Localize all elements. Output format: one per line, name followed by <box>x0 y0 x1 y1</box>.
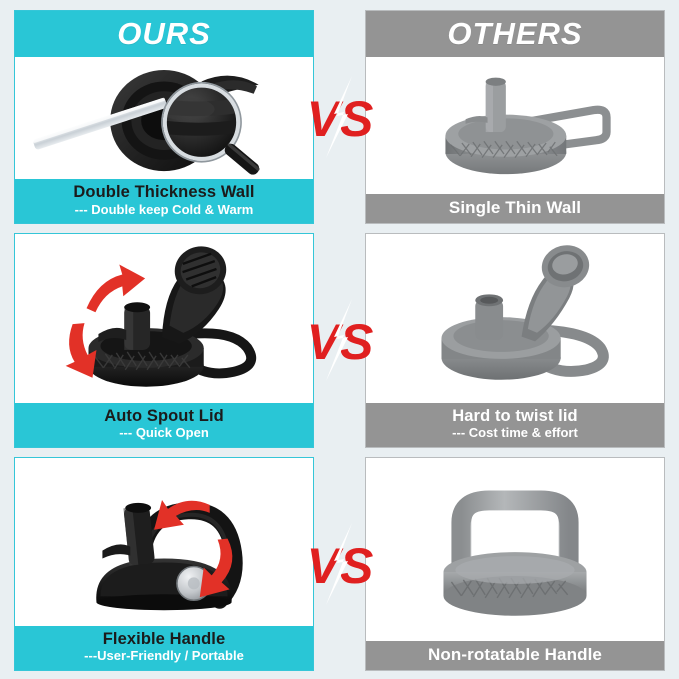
ours-caption-handle: Flexible Handle ---User-Friendly / Porta… <box>15 626 313 670</box>
svg-text:VS: VS <box>306 538 373 594</box>
single-thin-wall-lid-photo <box>366 57 664 194</box>
ours-image-wall-thickness <box>15 57 313 179</box>
others-card-wall-thickness: OTHERS <box>365 10 665 224</box>
ours-image-spout-lid <box>15 234 313 402</box>
caption-title: Auto Spout Lid <box>21 407 307 425</box>
svg-text:VS: VS <box>306 314 373 370</box>
caption-subtitle: --- Double keep Cold & Warm <box>21 203 307 218</box>
ours-card-wall-thickness: OURS <box>14 10 314 224</box>
ours-header-label: OURS <box>15 11 313 57</box>
caption-title: Double Thickness Wall <box>21 183 307 201</box>
caption-title: Non-rotatable Handle <box>372 645 658 664</box>
others-image-wall-thickness <box>366 57 664 194</box>
comparison-row-wall-thickness: OURS <box>10 10 669 224</box>
twist-lid-photo <box>366 234 664 402</box>
caption-subtitle: --- Cost time & effort <box>372 426 658 441</box>
ours-caption-wall-thickness: Double Thickness Wall --- Double keep Co… <box>15 179 313 223</box>
others-image-spout-lid <box>366 234 664 402</box>
caption-title: Flexible Handle <box>21 630 307 648</box>
vs-gutter-spout-lid: VS <box>314 233 365 447</box>
others-caption-handle: Non-rotatable Handle <box>366 641 664 670</box>
others-card-handle: Non-rotatable Handle <box>365 457 665 671</box>
svg-text:VS: VS <box>306 91 373 147</box>
caption-subtitle: ---User-Friendly / Portable <box>21 649 307 664</box>
comparison-board: OURS <box>0 0 679 679</box>
ours-caption-spout-lid: Auto Spout Lid --- Quick Open <box>15 403 313 447</box>
others-caption-wall-thickness: Single Thin Wall <box>366 194 664 223</box>
vs-gutter-handle: VS <box>314 457 365 671</box>
caption-subtitle: --- Quick Open <box>21 426 307 441</box>
ours-card-handle: Flexible Handle ---User-Friendly / Porta… <box>14 457 314 671</box>
caption-title: Single Thin Wall <box>372 198 658 217</box>
non-rotatable-handle-photo <box>366 458 664 641</box>
caption-title: Hard to twist lid <box>372 407 658 425</box>
double-wall-magnifier-photo <box>15 57 313 179</box>
comparison-row-handle: Flexible Handle ---User-Friendly / Porta… <box>10 457 669 671</box>
ours-card-spout-lid: Auto Spout Lid --- Quick Open <box>14 233 314 447</box>
flexible-handle-photo <box>15 458 313 626</box>
ours-image-handle <box>15 458 313 626</box>
others-card-spout-lid: Hard to twist lid --- Cost time & effort <box>365 233 665 447</box>
others-header-label: OTHERS <box>366 11 664 57</box>
auto-spout-lid-photo <box>15 234 313 402</box>
comparison-row-spout-lid: Auto Spout Lid --- Quick Open VS <box>10 233 669 447</box>
vs-gutter-wall-thickness: VS <box>314 10 365 224</box>
others-image-handle <box>366 458 664 641</box>
others-caption-spout-lid: Hard to twist lid --- Cost time & effort <box>366 403 664 447</box>
